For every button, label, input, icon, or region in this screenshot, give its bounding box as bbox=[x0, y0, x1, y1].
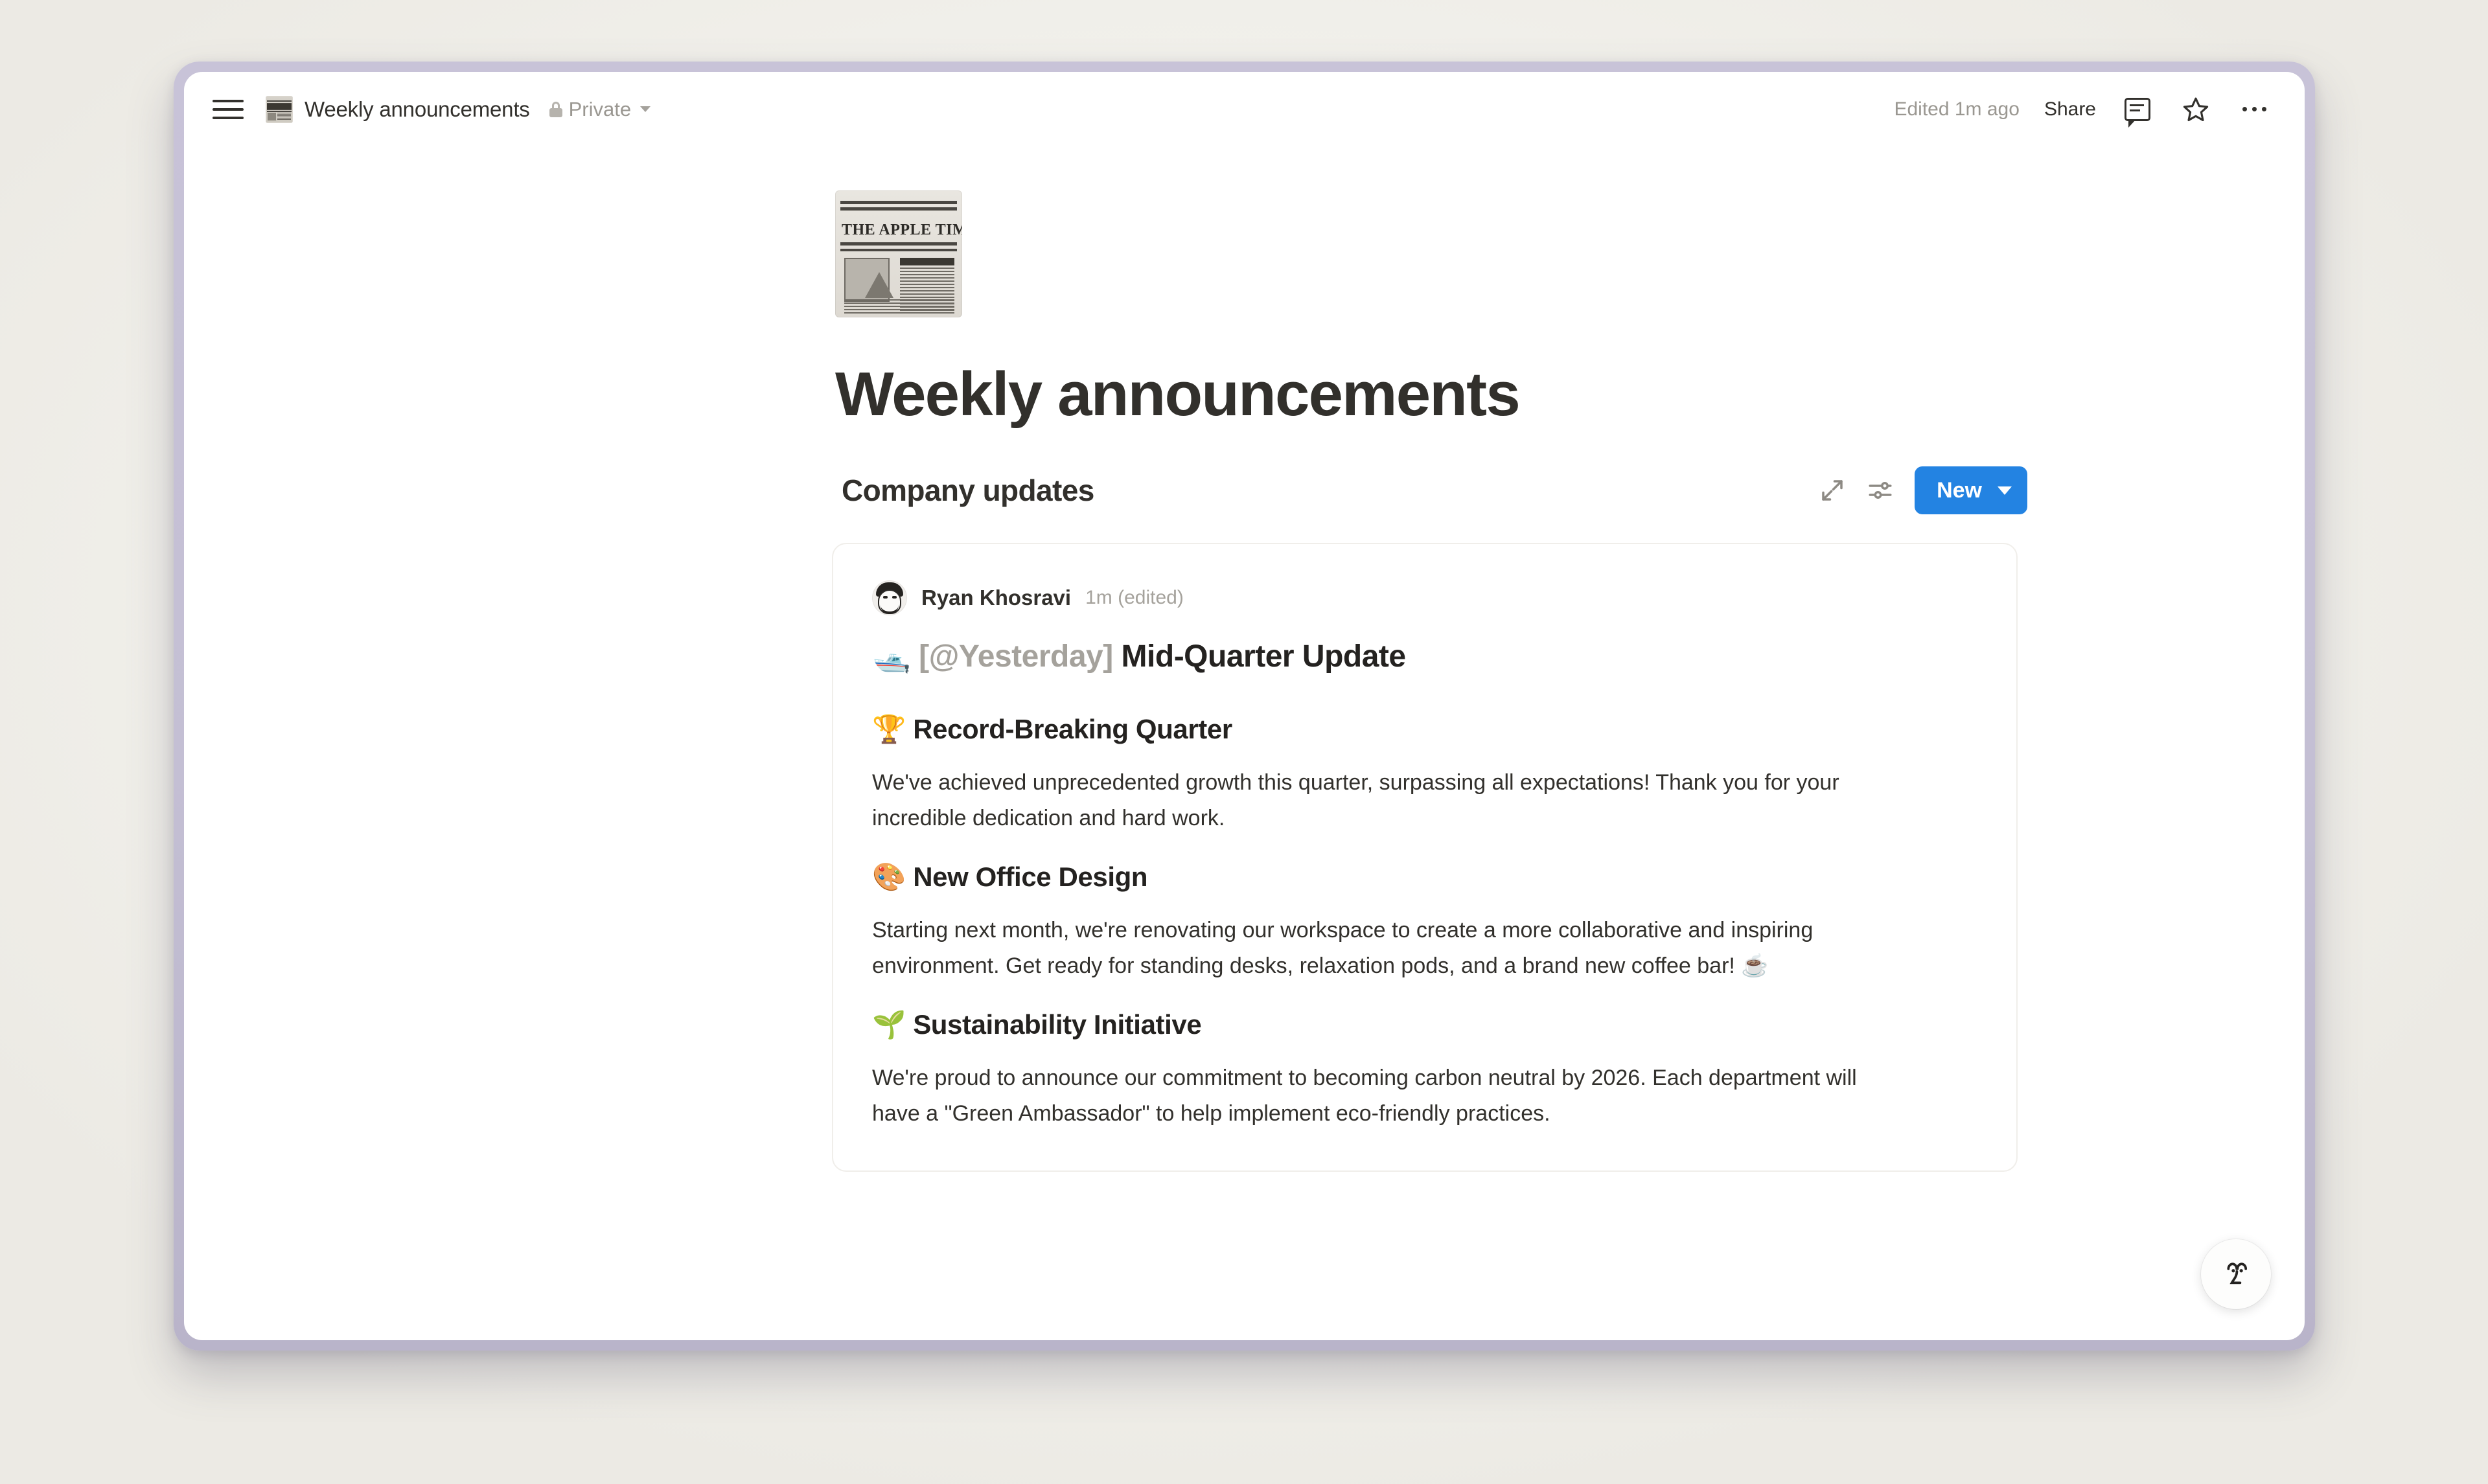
star-icon[interactable] bbox=[2179, 93, 2213, 126]
newspaper-masthead: THE APPLE TIMES bbox=[842, 220, 956, 240]
palette-icon: 🎨 bbox=[872, 861, 906, 893]
post-card[interactable]: Ryan Khosravi 1m (edited) 🛥️ [@Yesterday… bbox=[832, 543, 2018, 1172]
comment-icon[interactable] bbox=[2121, 93, 2154, 126]
chevron-down-icon bbox=[640, 106, 651, 112]
newspaper-page-icon[interactable] bbox=[266, 96, 293, 123]
notion-ai-face-icon[interactable] bbox=[2201, 1239, 2271, 1309]
block-heading-2: 🌱 Sustainability Initiative bbox=[872, 1009, 1977, 1041]
motorboat-icon: 🛥️ bbox=[872, 638, 910, 674]
desktop-background: Weekly announcements Private Edited 1m a… bbox=[0, 0, 2488, 1484]
post-header: Ryan Khosravi 1m (edited) bbox=[872, 580, 1977, 615]
post-timestamp: 1m (edited) bbox=[1085, 587, 1184, 609]
post-heading-text: Mid-Quarter Update bbox=[1113, 639, 1406, 674]
block-heading-text-1: New Office Design bbox=[913, 862, 1147, 892]
privacy-selector[interactable]: Private bbox=[549, 98, 651, 121]
new-button-label: New bbox=[1937, 478, 1982, 503]
section-toolbar: New bbox=[1819, 466, 2027, 514]
page-content: THE APPLE TIMES Weekly announcements Com… bbox=[184, 146, 2305, 1340]
section-title[interactable]: Company updates bbox=[842, 473, 1094, 508]
mention-yesterday[interactable]: [@Yesterday] bbox=[919, 639, 1113, 674]
browser-window-frame: Weekly announcements Private Edited 1m a… bbox=[174, 62, 2315, 1351]
top-bar: Weekly announcements Private Edited 1m a… bbox=[184, 72, 2305, 146]
block-body-2: We're proud to announce our commitment t… bbox=[872, 1060, 1883, 1132]
privacy-label: Private bbox=[569, 98, 631, 121]
share-button[interactable]: Share bbox=[2044, 98, 2096, 120]
top-bar-actions: Edited 1m ago Share bbox=[1894, 93, 2271, 126]
expand-arrows-icon[interactable] bbox=[1819, 477, 1846, 504]
lock-icon bbox=[549, 102, 562, 117]
hamburger-menu-icon[interactable] bbox=[213, 96, 244, 123]
block-heading-text-0: Record-Breaking Quarter bbox=[913, 714, 1232, 744]
post-heading: 🛥️ [@Yesterday] Mid-Quarter Update bbox=[872, 637, 1977, 674]
sliders-filter-icon[interactable] bbox=[1867, 477, 1894, 504]
chevron-down-icon[interactable] bbox=[1998, 486, 2012, 495]
block-heading-1: 🎨 New Office Design bbox=[872, 861, 1977, 893]
page-title[interactable]: Weekly announcements bbox=[835, 359, 2305, 430]
avatar[interactable] bbox=[872, 580, 907, 615]
ellipsis-icon[interactable] bbox=[2237, 93, 2271, 126]
block-heading-text-2: Sustainability Initiative bbox=[913, 1009, 1201, 1040]
block-body-1: Starting next month, we're renovating ou… bbox=[872, 913, 1883, 984]
trophy-icon: 🏆 bbox=[872, 713, 906, 745]
block-heading-0: 🏆 Record-Breaking Quarter bbox=[872, 713, 1977, 746]
breadcrumb[interactable]: Weekly announcements bbox=[305, 97, 530, 122]
section-header-row: Company updates bbox=[842, 466, 2027, 514]
new-button[interactable]: New bbox=[1915, 466, 2027, 514]
app-window: Weekly announcements Private Edited 1m a… bbox=[184, 72, 2305, 1340]
edited-status: Edited 1m ago bbox=[1894, 98, 2019, 120]
post-author[interactable]: Ryan Khosravi bbox=[921, 586, 1071, 610]
seedling-icon: 🌱 bbox=[872, 1009, 906, 1040]
block-body-0: We've achieved unprecedented growth this… bbox=[872, 765, 1883, 836]
page-cover-icon[interactable]: THE APPLE TIMES bbox=[835, 190, 962, 317]
